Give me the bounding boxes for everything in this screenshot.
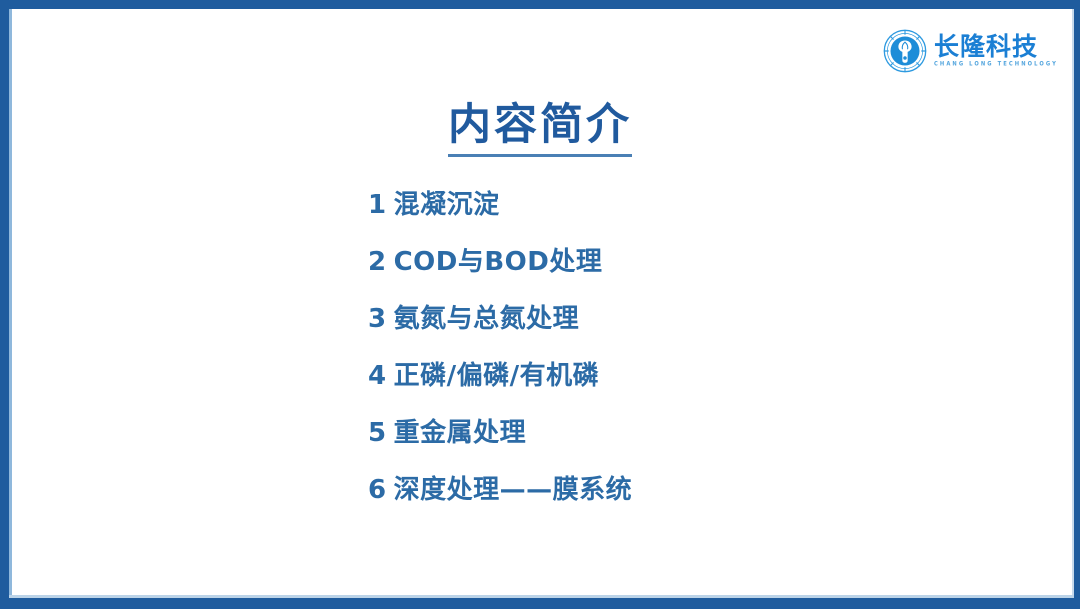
chang-long-emblem-icon [883,29,927,73]
list-item: 1混凝沉淀 [368,192,968,218]
logo-wordmark: 长隆科技 CHANG LONG TECHNOLOGY [934,34,1058,67]
list-item-number: 4 [368,361,387,391]
list-item-number: 1 [368,190,387,220]
list-item-label: 氨氮与总氮处理 [394,304,580,334]
slide-border-bottom [0,598,1080,609]
list-item-label: 混凝沉淀 [394,190,500,220]
list-item-number: 5 [368,418,387,448]
page-title: 内容简介 [448,103,632,157]
list-item: 2COD与BOD处理 [368,249,968,275]
logo-name-cn: 长隆科技 [934,34,1058,59]
company-logo: 长隆科技 CHANG LONG TECHNOLOGY [883,29,1058,73]
list-item-number: 6 [368,475,387,505]
slide-border-right [1074,0,1080,609]
presentation-slide: 长隆科技 CHANG LONG TECHNOLOGY 内容简介 1混凝沉淀 2C… [0,0,1080,609]
list-item-number: 3 [368,304,387,334]
slide-border-top [0,0,1080,9]
agenda-list: 1混凝沉淀 2COD与BOD处理 3氨氮与总氮处理 4正磷/偏磷/有机磷 5重金… [368,192,968,503]
slide-border-right-accent [1072,9,1074,599]
list-item-label: 重金属处理 [394,418,527,448]
logo-name-en: CHANG LONG TECHNOLOGY [934,62,1058,68]
slide-title-container: 内容简介 [0,103,1080,157]
list-item: 6深度处理——膜系统 [368,477,968,503]
list-item-number: 2 [368,247,387,277]
list-item: 3氨氮与总氮处理 [368,306,968,332]
list-item-label: COD与BOD处理 [394,247,603,277]
list-item-label: 正磷/偏磷/有机磷 [394,361,600,391]
list-item-label: 深度处理——膜系统 [394,475,633,505]
list-item: 5重金属处理 [368,420,968,446]
slide-border-left-accent [9,9,12,599]
list-item: 4正磷/偏磷/有机磷 [368,363,968,389]
slide-border-left [0,0,9,609]
